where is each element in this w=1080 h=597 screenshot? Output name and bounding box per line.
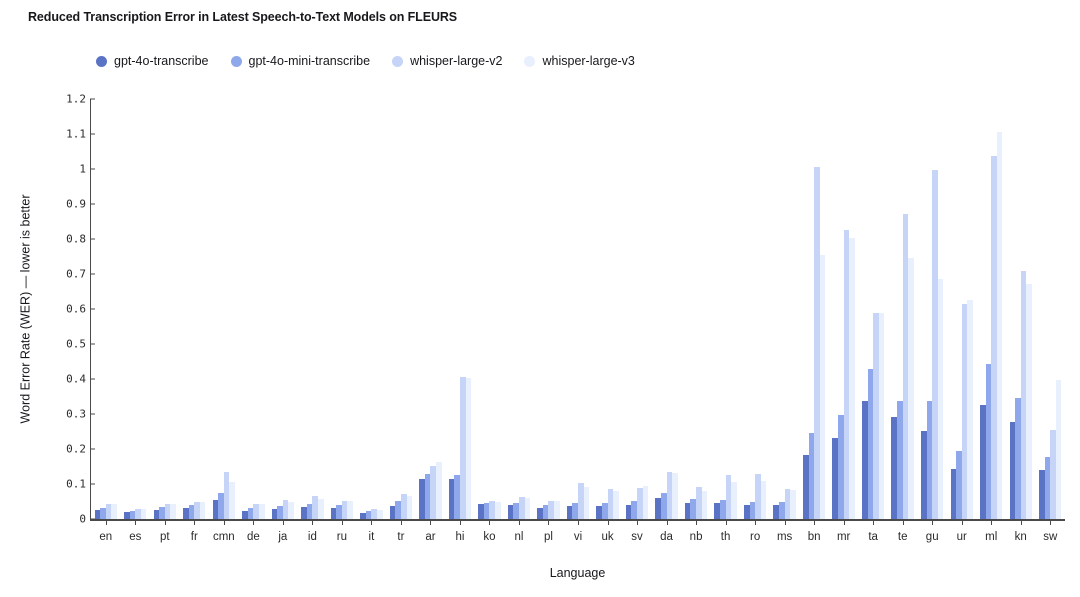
y-axis-tick: 1: [79, 163, 90, 176]
bar[interactable]: [554, 501, 560, 519]
x-axis-tick-label: nb: [681, 531, 711, 543]
bar-group: da: [652, 99, 682, 519]
bar-group: nl: [504, 99, 534, 519]
x-axis-tick-label: nl: [504, 531, 534, 543]
bar[interactable]: [495, 502, 501, 519]
bar[interactable]: [377, 510, 383, 519]
bar[interactable]: [967, 300, 973, 519]
x-axis-tick-mark: [637, 519, 638, 525]
x-axis-tick-mark: [253, 519, 254, 525]
x-axis-tick-label: sw: [1036, 531, 1066, 543]
bar-group: ko: [475, 99, 505, 519]
x-axis-tick-mark: [283, 519, 284, 525]
bar[interactable]: [702, 491, 708, 519]
x-axis-tick-label: mr: [829, 531, 859, 543]
x-axis-tick-label: ms: [770, 531, 800, 543]
y-axis-tick-label: 1.2: [66, 93, 86, 106]
y-axis-tick: 1.2: [66, 93, 90, 106]
x-axis-tick-mark: [430, 519, 431, 525]
x-axis-tick-mark: [165, 519, 166, 525]
bar-group: hi: [445, 99, 475, 519]
y-axis-tick-label: 0.5: [66, 338, 86, 351]
legend-item-gpt-4o-transcribe[interactable]: gpt-4o-transcribe: [96, 54, 209, 68]
x-axis-tick-label: es: [121, 531, 151, 543]
bar[interactable]: [259, 504, 265, 519]
x-axis-tick-label: de: [239, 531, 269, 543]
bar-group: ja: [268, 99, 298, 519]
y-axis-title: Word Error Rate (WER) — lower is better: [16, 99, 34, 519]
x-axis-tick-label: uk: [593, 531, 623, 543]
x-axis-tick-label: pt: [150, 531, 180, 543]
legend-item-whisper-large-v3[interactable]: whisper-large-v3: [524, 54, 634, 68]
legend-item-label: whisper-large-v3: [542, 54, 634, 68]
bar[interactable]: [584, 487, 590, 519]
y-axis-tick-label: 0.9: [66, 198, 86, 211]
y-axis-tick: 0.3: [66, 408, 90, 421]
y-axis-tick-label: 1.1: [66, 128, 86, 141]
x-axis-tick-label: cmn: [209, 531, 239, 543]
bar[interactable]: [407, 496, 413, 519]
x-axis-tick-mark: [194, 519, 195, 525]
bar[interactable]: [672, 473, 678, 519]
x-axis-tick-mark: [489, 519, 490, 525]
x-axis-tick-mark: [578, 519, 579, 525]
bar-group: ru: [327, 99, 357, 519]
bar-group: bn: [799, 99, 829, 519]
bar[interactable]: [200, 502, 206, 519]
x-axis-tick-mark: [312, 519, 313, 525]
bar[interactable]: [1026, 284, 1032, 519]
legend-item-whisper-large-v2[interactable]: whisper-large-v2: [392, 54, 502, 68]
x-axis-tick-label: ru: [327, 531, 357, 543]
y-axis-tick-label: 1: [79, 163, 86, 176]
y-axis-tick-label: 0.3: [66, 408, 86, 421]
x-axis-tick-mark: [696, 519, 697, 525]
bar-group: mr: [829, 99, 859, 519]
x-axis-tick-label: ko: [475, 531, 505, 543]
legend-swatch-icon: [524, 56, 535, 67]
bar[interactable]: [849, 238, 855, 519]
bar[interactable]: [347, 501, 353, 519]
y-axis-tick-label: 0.7: [66, 268, 86, 281]
x-axis-tick-mark: [135, 519, 136, 525]
bar[interactable]: [170, 504, 176, 519]
bar[interactable]: [908, 258, 914, 519]
bar-group: pt: [150, 99, 180, 519]
x-axis-tick-mark: [342, 519, 343, 525]
y-axis-tick: 0.8: [66, 233, 90, 246]
y-axis-tick-label: 0.4: [66, 373, 86, 386]
bar[interactable]: [731, 482, 737, 519]
y-axis-title-label: Word Error Rate (WER) — lower is better: [18, 195, 32, 424]
x-axis-tick-label: fr: [180, 531, 210, 543]
bar[interactable]: [111, 504, 117, 519]
x-axis-title: Language: [90, 566, 1065, 580]
y-axis-tick: 0.7: [66, 268, 90, 281]
bar[interactable]: [997, 132, 1003, 519]
bar-group: nb: [681, 99, 711, 519]
y-axis-tick: 0.6: [66, 303, 90, 316]
bar-group: ar: [416, 99, 446, 519]
bar[interactable]: [938, 279, 944, 519]
bar-group: es: [121, 99, 151, 519]
bar-group: ta: [858, 99, 888, 519]
bar-group: en: [91, 99, 121, 519]
x-axis-tick-mark: [1021, 519, 1022, 525]
legend-item-label: whisper-large-v2: [410, 54, 502, 68]
x-axis-tick-mark: [548, 519, 549, 525]
bar-group: it: [357, 99, 387, 519]
x-axis-tick-label: en: [91, 531, 121, 543]
x-axis-tick-mark: [873, 519, 874, 525]
bar[interactable]: [141, 509, 147, 519]
bar-group: sv: [622, 99, 652, 519]
bar[interactable]: [318, 499, 324, 519]
x-axis-tick-mark: [962, 519, 963, 525]
y-axis-tick-label: 0: [79, 513, 86, 526]
x-axis-tick-mark: [1050, 519, 1051, 525]
plot-area: 00.10.20.30.40.50.60.70.80.911.11.2 enes…: [90, 99, 1065, 519]
x-axis-tick-label: vi: [563, 531, 593, 543]
x-axis-tick-mark: [932, 519, 933, 525]
bar[interactable]: [525, 498, 531, 519]
legend-swatch-icon: [392, 56, 403, 67]
legend-item-label: gpt-4o-mini-transcribe: [249, 54, 371, 68]
x-axis-tick-label: id: [298, 531, 328, 543]
x-axis-tick-label: th: [711, 531, 741, 543]
legend-swatch-icon: [231, 56, 242, 67]
x-axis-tick-label: ml: [976, 531, 1006, 543]
bar[interactable]: [436, 462, 442, 519]
chart-legend: gpt-4o-transcribegpt-4o-mini-transcribew…: [96, 54, 635, 68]
y-axis-tick: 0.5: [66, 338, 90, 351]
bar[interactable]: [790, 490, 796, 519]
x-axis-tick-mark: [106, 519, 107, 525]
bar-group: cmn: [209, 99, 239, 519]
bar[interactable]: [879, 313, 885, 519]
bar-group: th: [711, 99, 741, 519]
x-axis-tick-label: ro: [740, 531, 770, 543]
x-axis-tick-label: sv: [622, 531, 652, 543]
x-axis-tick-mark: [608, 519, 609, 525]
bar[interactable]: [613, 491, 619, 519]
x-axis-tick-mark: [991, 519, 992, 525]
bar[interactable]: [466, 378, 472, 519]
x-axis-tick-label: te: [888, 531, 918, 543]
x-axis-tick-label: hi: [445, 531, 475, 543]
x-axis-tick-label: it: [357, 531, 387, 543]
y-axis-tick-label: 0.8: [66, 233, 86, 246]
bar-groups: enesptfrcmndejaidruittrarhikonlplviuksvd…: [91, 99, 1065, 519]
x-axis-tick-mark: [844, 519, 845, 525]
x-axis-tick-mark: [519, 519, 520, 525]
bar-group: fr: [180, 99, 210, 519]
chart-title: Reduced Transcription Error in Latest Sp…: [28, 10, 457, 24]
x-axis-tick-label: kn: [1006, 531, 1036, 543]
y-axis-tick: 1.1: [66, 128, 90, 141]
x-axis-tick-label: da: [652, 531, 682, 543]
bar[interactable]: [229, 482, 235, 519]
x-axis-tick-mark: [726, 519, 727, 525]
bar-group: uk: [593, 99, 623, 519]
x-axis-tick-label: ta: [858, 531, 888, 543]
bar-group: vi: [563, 99, 593, 519]
x-axis-tick-mark: [401, 519, 402, 525]
bar-group: ro: [740, 99, 770, 519]
x-axis-tick-label: tr: [386, 531, 416, 543]
x-axis-tick-mark: [903, 519, 904, 525]
x-axis-tick-mark: [460, 519, 461, 525]
x-axis-tick-mark: [224, 519, 225, 525]
bar-group: gu: [917, 99, 947, 519]
y-axis-tick: 0.9: [66, 198, 90, 211]
bar-group: ur: [947, 99, 977, 519]
x-axis-tick-label: ja: [268, 531, 298, 543]
bar[interactable]: [761, 481, 767, 519]
x-axis-tick-label: pl: [534, 531, 564, 543]
bar-group: id: [298, 99, 328, 519]
y-axis-tick: 0.4: [66, 373, 90, 386]
x-axis-tick-mark: [667, 519, 668, 525]
bar-group: ms: [770, 99, 800, 519]
bar[interactable]: [288, 502, 294, 520]
bar[interactable]: [643, 486, 649, 519]
legend-item-label: gpt-4o-transcribe: [114, 54, 209, 68]
bar-group: ml: [976, 99, 1006, 519]
y-axis-tick: 0: [79, 513, 90, 526]
x-axis-tick-label: gu: [917, 531, 947, 543]
legend-item-gpt-4o-mini-transcribe[interactable]: gpt-4o-mini-transcribe: [231, 54, 371, 68]
bar-group: de: [239, 99, 269, 519]
x-axis-tick-mark: [785, 519, 786, 525]
y-axis-tick: 0.2: [66, 443, 90, 456]
legend-swatch-icon: [96, 56, 107, 67]
y-axis-tick-label: 0.2: [66, 443, 86, 456]
bar-group: tr: [386, 99, 416, 519]
x-axis-tick-label: ar: [416, 531, 446, 543]
y-axis-tick: 0.1: [66, 478, 90, 491]
bar-group: pl: [534, 99, 564, 519]
bar[interactable]: [1056, 380, 1062, 519]
x-axis-tick-mark: [371, 519, 372, 525]
x-axis-tick-label: ur: [947, 531, 977, 543]
bar-group: te: [888, 99, 918, 519]
y-axis-tick-label: 0.1: [66, 478, 86, 491]
bar[interactable]: [820, 255, 826, 519]
bar-group: kn: [1006, 99, 1036, 519]
y-axis-tick-label: 0.6: [66, 303, 86, 316]
bar-group: sw: [1036, 99, 1066, 519]
x-axis-tick-mark: [814, 519, 815, 525]
x-axis-tick-label: bn: [799, 531, 829, 543]
x-axis-tick-mark: [755, 519, 756, 525]
